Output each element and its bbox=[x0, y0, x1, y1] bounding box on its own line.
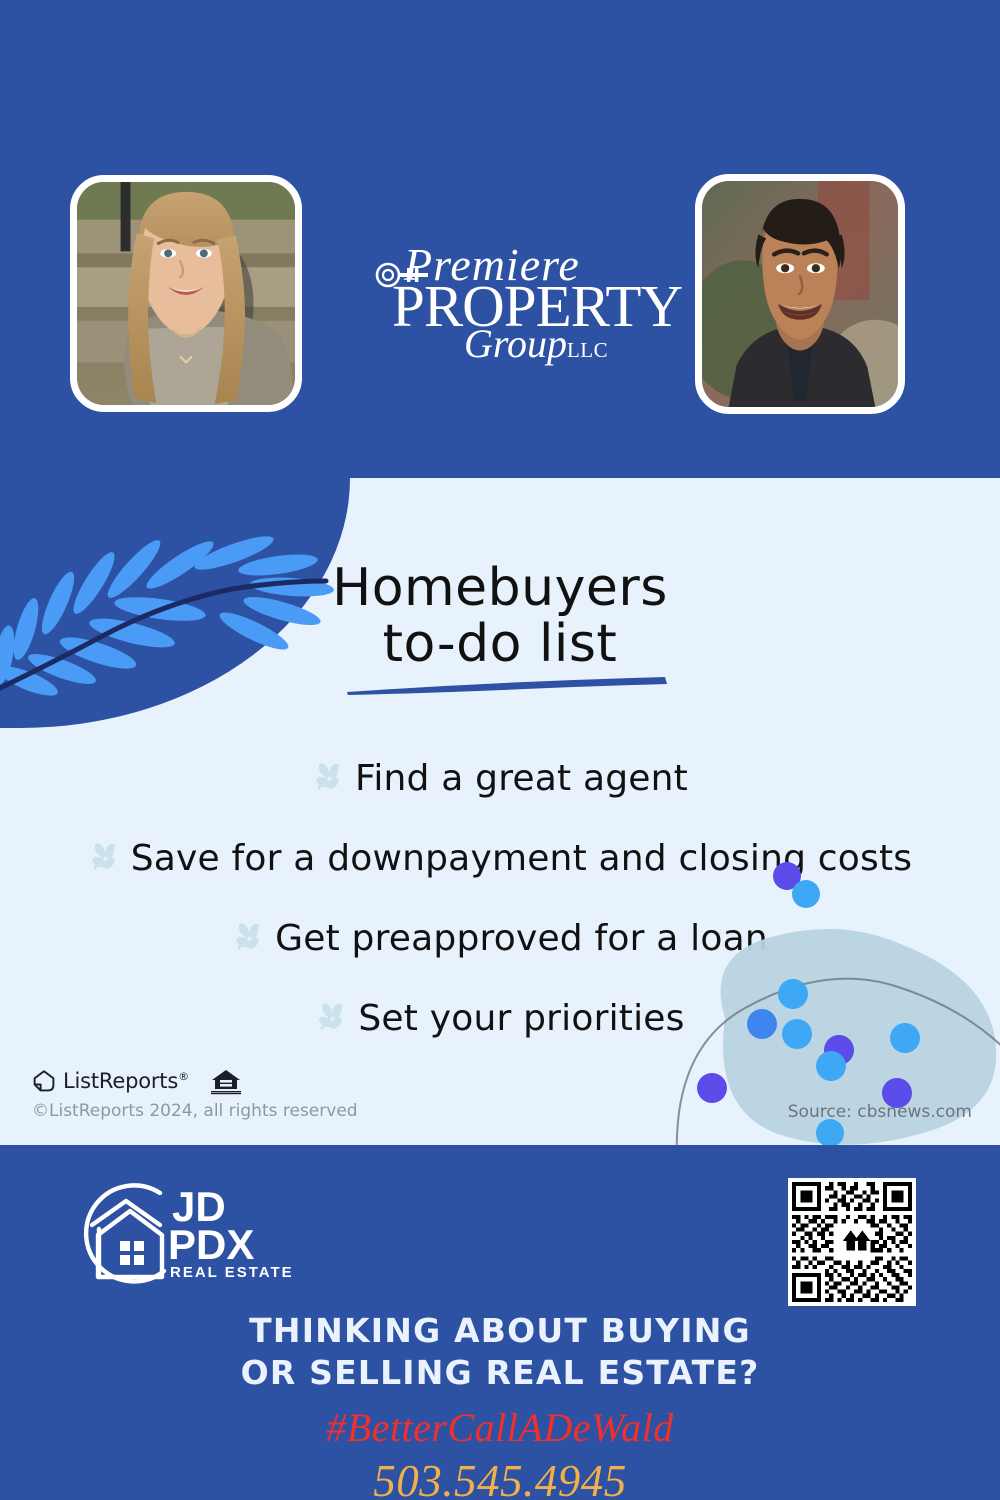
equal-housing-icon bbox=[211, 1067, 241, 1095]
list-item-label: Set your priorities bbox=[358, 998, 684, 1039]
cta-line-2: OR SELLING REAL ESTATE? bbox=[0, 1352, 1000, 1394]
qr-code-image bbox=[792, 1182, 912, 1302]
jdpdx-logo: JD PDX REAL ESTATE bbox=[68, 1173, 318, 1291]
listreports-wordmark: ListReports bbox=[63, 1069, 178, 1093]
listreports-attribution: ListReports® ©ListReports 2024, all righ… bbox=[32, 1066, 358, 1121]
list-item-label: Find a great agent bbox=[355, 758, 688, 799]
leaf-bullet-icon bbox=[232, 921, 266, 955]
cta-hashtag: #BetterCallADeWald bbox=[0, 1404, 1000, 1451]
copyright-text: ©ListReports 2024, all rights reserved bbox=[32, 1101, 358, 1121]
agent-photo-right bbox=[695, 174, 905, 414]
brokerage-logo-line3: GroupLLC bbox=[464, 320, 608, 367]
page-title-line2: to-do list bbox=[0, 616, 1000, 672]
cta-line-1: THINKING ABOUT BUYING bbox=[0, 1310, 1000, 1352]
agent-photo-left bbox=[70, 175, 302, 412]
leaf-bullet-icon bbox=[315, 1001, 349, 1035]
cta-phone-number[interactable]: 503.545.4945 bbox=[0, 1455, 1000, 1500]
registered-mark: ® bbox=[178, 1070, 189, 1083]
title-underline bbox=[345, 674, 670, 696]
brokerage-logo-group-word: Group bbox=[464, 321, 567, 366]
leaf-bullet-icon bbox=[88, 841, 122, 875]
call-to-action: THINKING ABOUT BUYING OR SELLING REAL ES… bbox=[0, 1310, 1000, 1500]
page-title: Homebuyers to-do list bbox=[0, 560, 1000, 672]
brokerage-logo-suffix: LLC bbox=[567, 338, 608, 362]
qr-code[interactable] bbox=[788, 1178, 916, 1306]
listreports-name: ListReports® bbox=[63, 1069, 189, 1093]
agent-photo-right-image bbox=[702, 181, 898, 407]
leaf-bullet-icon bbox=[312, 761, 346, 795]
source-attribution: Source: cbsnews.com bbox=[788, 1102, 972, 1122]
page-title-line1: Homebuyers bbox=[332, 558, 668, 618]
jdpdx-logo-line2: PDX bbox=[168, 1221, 254, 1268]
jdpdx-logo-tagline: REAL ESTATE bbox=[170, 1264, 294, 1281]
agent-photo-left-image bbox=[77, 182, 295, 405]
marketing-flyer: Premiere PROPERTY GroupLLC bbox=[0, 0, 1000, 1500]
content-panel: Homebuyers to-do list Find a great agent bbox=[0, 478, 1000, 1145]
list-item: Find a great agent bbox=[0, 738, 1000, 818]
brokerage-logo: Premiere PROPERTY GroupLLC bbox=[352, 238, 652, 358]
listreports-icon bbox=[32, 1069, 56, 1093]
